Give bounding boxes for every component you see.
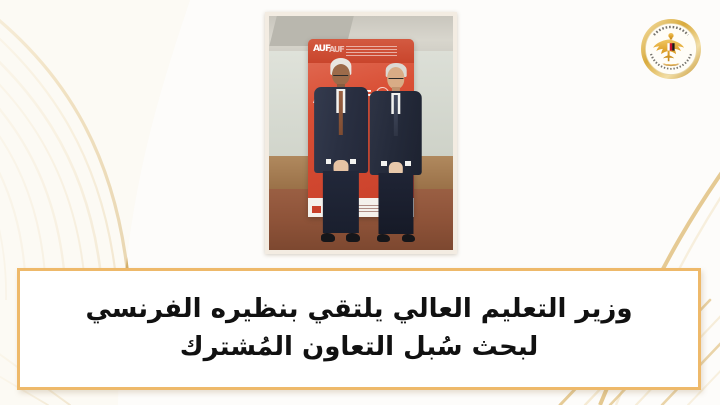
person-left	[309, 58, 372, 241]
caption-line-2: لبحث سُبل التعاون المُشترك	[180, 329, 538, 367]
ministers-photo-frame: AUF AUF AUF AUF AUF	[265, 12, 457, 254]
news-caption-box: وزير التعليم العالي يلتقي بنظيره الفرنسي…	[17, 268, 701, 390]
egypt-ministry-emblem-icon	[640, 18, 702, 80]
caption-line-1: وزير التعليم العالي يلتقي بنظيره الفرنسي	[85, 291, 632, 329]
ministers-photo: AUF AUF AUF AUF AUF	[269, 16, 453, 250]
person-right	[365, 63, 428, 241]
news-slide: AUF AUF AUF AUF AUF	[0, 0, 720, 405]
decor-ribbons-top-left	[0, 0, 130, 300]
